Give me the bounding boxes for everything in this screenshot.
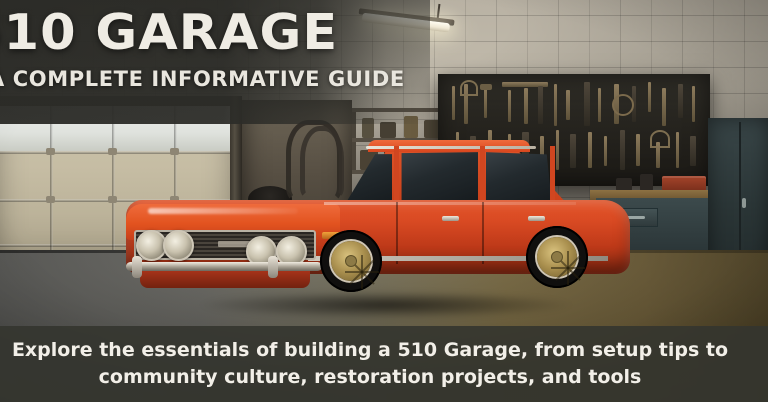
red-toolbox [662, 176, 706, 191]
front-bumper [126, 262, 322, 271]
datsun-510-car [118, 138, 638, 318]
front-door-window [400, 150, 478, 202]
headlight-inner-left [163, 230, 194, 261]
hero-banner: 510 GARAGE A COMPLETE INFORMATIVE GUIDE … [0, 0, 768, 402]
page-subtitle: A COMPLETE INFORMATIVE GUIDE [0, 66, 332, 92]
caption-bar: Explore the essentials of building a 510… [0, 326, 768, 402]
rear-wheel [526, 226, 588, 288]
front-wheel [320, 230, 382, 292]
caption-text: Explore the essentials of building a 510… [0, 337, 754, 391]
rear-door-window [486, 150, 552, 204]
cabinet-handle-icon [742, 198, 746, 208]
page-title: 510 GARAGE [0, 6, 325, 60]
windshield [332, 152, 392, 204]
